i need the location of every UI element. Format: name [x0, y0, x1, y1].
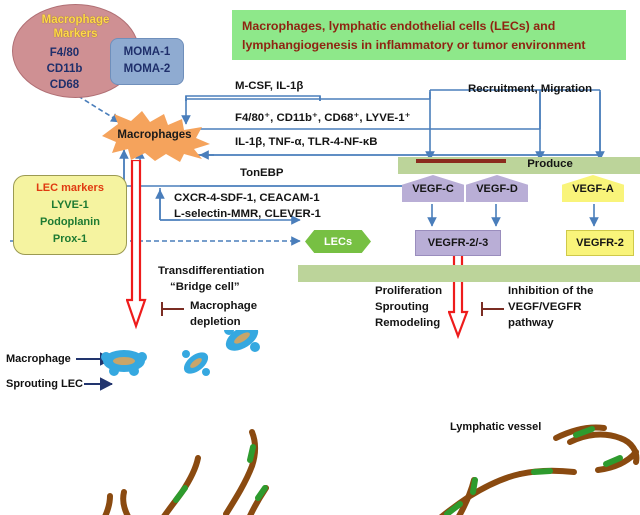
label-inhibition-1: Inhibition of the: [508, 285, 593, 297]
marker-item: CD68: [13, 77, 116, 93]
lymphatic-vessel-illustration: [0, 330, 640, 515]
marker-item: F4/80: [13, 45, 116, 61]
label-surface-markers: F4/80⁺, CD11b⁺, CD68⁺, LYVE-1⁺: [235, 110, 411, 124]
moma-1-label: MOMA-1: [111, 46, 183, 58]
macrophage-cell: [180, 348, 212, 378]
node-vegfr-2[interactable]: VEGFR-2: [566, 230, 634, 256]
node-vegf-c-label: VEGF-C: [412, 183, 454, 195]
maroon-bar: [416, 159, 506, 163]
label-sprouting: Sprouting: [375, 301, 429, 313]
label-inhibition-2: VEGF/VEGFR: [508, 301, 581, 313]
label-remodeling: Remodeling: [375, 317, 440, 329]
macrophages-node-label: Macrophages: [112, 129, 197, 141]
inhibition-bar-left: [160, 300, 186, 318]
lec-marker-item: Prox-1: [14, 233, 126, 245]
label-lymphatic-vessel: Lymphatic vessel: [450, 421, 541, 433]
label-inhibition-3: pathway: [508, 317, 554, 329]
diagram-canvas: Macrophage Markers F4/80 CD11b CD68 MOMA…: [0, 0, 640, 515]
node-vegfr-2-3-label: VEGFR-2/-3: [428, 237, 489, 249]
title-line-2: lymphangiogenesis in inflammatory or tum…: [242, 38, 586, 52]
macrophage-markers-heading: Macrophage Markers: [13, 14, 138, 41]
green-band-bottom: [298, 265, 640, 282]
page-title: Macrophages, lymphatic endothelial cells…: [242, 17, 620, 55]
lec-marker-item: Podoplanin: [14, 216, 126, 228]
produce-label: Produce: [500, 158, 600, 170]
node-vegfr-2-3[interactable]: VEGFR-2/-3: [415, 230, 501, 256]
label-transdifferentiation-1: Transdifferentiation: [158, 265, 264, 277]
node-lecs[interactable]: LECs: [305, 230, 371, 253]
node-vegfr-2-label: VEGFR-2: [576, 237, 624, 249]
label-adhesion-2: L-selectin-MMR, CLEVER-1: [174, 208, 321, 220]
node-vegf-a-label: VEGF-A: [572, 183, 614, 195]
inhibition-bar-right: [480, 300, 506, 318]
title-line-1: Macrophages, lymphatic endothelial cells…: [242, 19, 555, 33]
label-macrophage-depletion-1: Macrophage: [190, 300, 257, 312]
macrophage-cell: [101, 350, 147, 376]
label-transdifferentiation-2: “Bridge cell”: [170, 281, 240, 293]
label-cytokines: IL-1β, TNF-α, TLR-4-NF-κB: [235, 136, 377, 148]
label-proliferation: Proliferation: [375, 285, 442, 297]
label-macrophage-depletion-2: depletion: [190, 316, 241, 328]
moma-box[interactable]: MOMA-1 MOMA-2: [110, 38, 184, 85]
lec-markers-box[interactable]: LEC markers LYVE-1 Podoplanin Prox-1: [13, 175, 127, 255]
marker-item: CD11b: [13, 61, 116, 77]
label-recruitment-migration: Recruitment, Migration: [468, 83, 592, 95]
title-banner: Macrophages, lymphatic endothelial cells…: [232, 10, 626, 60]
red-arrow-left: [126, 160, 148, 332]
red-arrow-right: [448, 250, 470, 340]
label-macrophage-callout: Macrophage: [6, 353, 71, 365]
macrophage-cell: [221, 330, 262, 356]
moma-2-label: MOMA-2: [111, 63, 183, 75]
label-sprouting-lec-callout: Sprouting LEC: [6, 378, 83, 390]
lec-marker-item: LYVE-1: [14, 199, 126, 211]
node-lecs-label: LECs: [324, 236, 352, 248]
label-adhesion-1: CXCR-4-SDF-1, CEACAM-1: [174, 192, 320, 204]
lec-markers-heading: LEC markers: [14, 182, 126, 194]
macrophage-markers-list: F4/80 CD11b CD68: [13, 45, 116, 93]
label-tonebp: TonEBP: [240, 167, 283, 179]
node-vegf-d-label: VEGF-D: [476, 183, 518, 195]
label-mcsf-il1b: M-CSF, IL-1β: [235, 80, 303, 92]
